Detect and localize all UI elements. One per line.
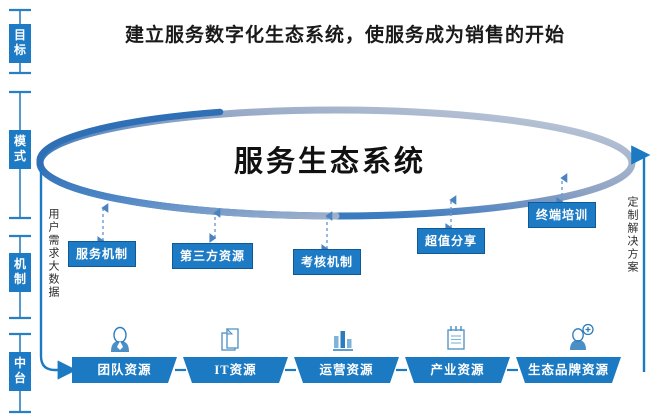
resource-chevron-operations[interactable]: 运营资源 <box>294 357 399 383</box>
resource-chevron-it[interactable]: IT资源 <box>183 357 288 383</box>
mechanism-pill-training[interactable]: 终端培训 <box>528 202 596 228</box>
stage-label-midplatform-char-1: 中 <box>9 356 31 371</box>
stage-label-mechanism[interactable]: 机 制 <box>9 253 31 292</box>
resource-chevron-ecobrand-label: 生态品牌资源 <box>516 364 621 377</box>
mechanism-pill-thirdparty[interactable]: 第三方资源 <box>172 243 253 269</box>
resource-chevron-team-label: 团队资源 <box>72 364 177 377</box>
resource-chevron-it-label: IT资源 <box>183 364 288 377</box>
stage-label-goal[interactable]: 目 标 <box>9 24 31 63</box>
stage-label-midplatform-char-2: 台 <box>9 371 31 386</box>
ecosystem-title: 服务生态系统 <box>170 138 490 180</box>
mechanism-pill-service[interactable]: 服务机制 <box>68 241 136 267</box>
stage-label-goal-char-1: 目 <box>9 28 31 43</box>
page-title: 建立服务数字化生态系统，使服务成为销售的开始 <box>110 20 580 47</box>
stage-label-mechanism-char-1: 机 <box>9 257 31 272</box>
stage-label-midplatform[interactable]: 中 台 <box>9 352 31 391</box>
diagram-text-layer: 建立服务数字化生态系统，使服务成为销售的开始 目 标 模 式 机 制 中 台 服… <box>0 0 660 419</box>
stage-label-mode-char-1: 模 <box>9 134 31 149</box>
left-vertical-label: 用户需求大数据 <box>46 208 60 299</box>
resource-chevron-operations-label: 运营资源 <box>294 364 399 377</box>
stage-label-goal-char-2: 标 <box>9 43 31 58</box>
diagram-canvas: 建立服务数字化生态系统，使服务成为销售的开始 目 标 模 式 机 制 中 台 服… <box>0 0 660 419</box>
mechanism-pill-valueshare[interactable]: 超值分享 <box>417 228 485 254</box>
stage-label-mode-char-2: 式 <box>9 149 31 164</box>
resource-chevron-team[interactable]: 团队资源 <box>72 357 177 383</box>
stage-label-mechanism-char-2: 制 <box>9 272 31 287</box>
right-vertical-label: 定制解决方案 <box>625 196 639 274</box>
stage-label-mode[interactable]: 模 式 <box>9 130 31 169</box>
resource-chevron-ecobrand[interactable]: 生态品牌资源 <box>516 357 621 383</box>
mechanism-pill-assessment[interactable]: 考核机制 <box>293 249 361 275</box>
resource-chevron-industry[interactable]: 产业资源 <box>405 357 510 383</box>
resource-chevron-industry-label: 产业资源 <box>405 364 510 377</box>
